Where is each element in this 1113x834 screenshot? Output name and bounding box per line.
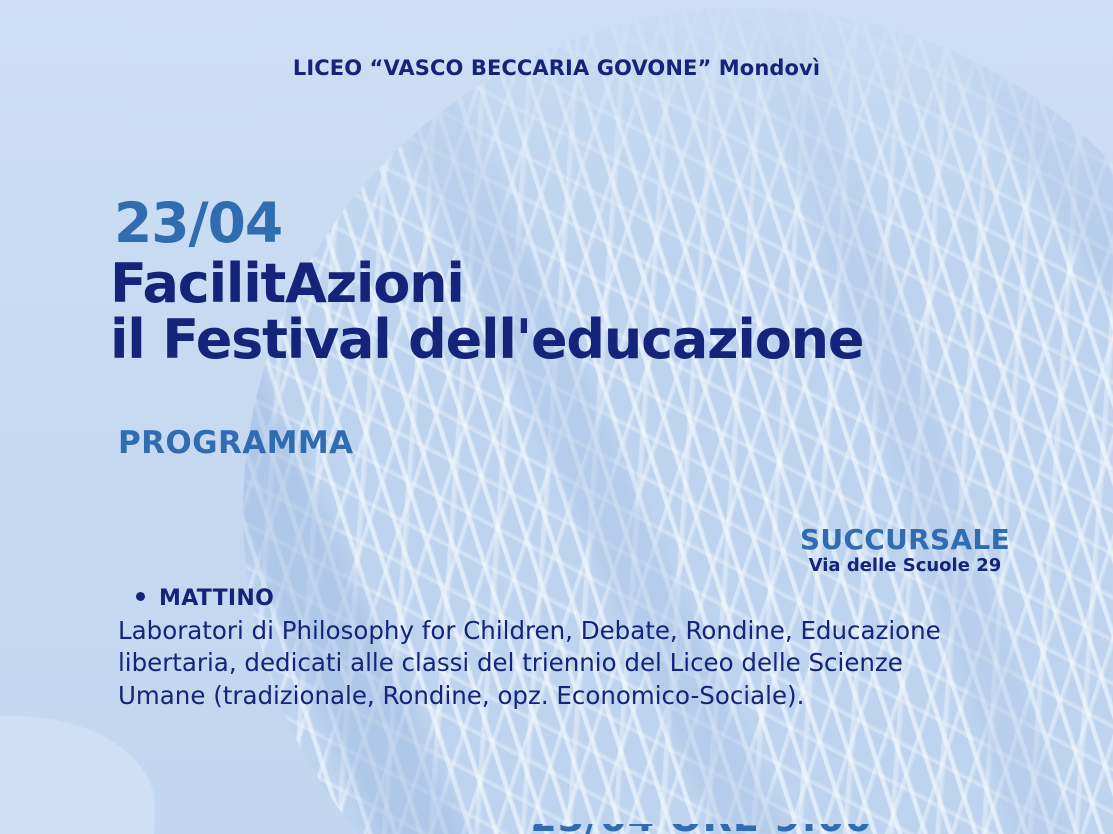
event-title-line-2: il Festival dell'educazione — [110, 312, 863, 368]
session-mattino-header: MATTINO — [136, 586, 998, 611]
venue-name: SUCCURSALE — [800, 525, 1010, 555]
event-date: 23/04 — [114, 196, 282, 251]
bullet-icon — [136, 592, 145, 601]
cropped-footer-region: 23/04 ORE 9:00 — [0, 824, 1113, 834]
cropped-footer-text: 23/04 ORE 9:00 — [0, 824, 1113, 834]
session-mattino: MATTINO Laboratori di Philosophy for Chi… — [118, 586, 998, 712]
poster-content: LICEO “VASCO BECCARIA GOVONE” Mondovì 23… — [0, 0, 1113, 834]
venue-address: Via delle Scuole 29 — [800, 556, 1010, 575]
session-mattino-description: Laboratori di Philosophy for Children, D… — [118, 615, 973, 712]
programme-heading: PROGRAMMA — [118, 425, 354, 461]
poster-canvas: LICEO “VASCO BECCARIA GOVONE” Mondovì 23… — [0, 0, 1113, 834]
event-title: FacilitAzioni il Festival dell'educazion… — [110, 256, 863, 368]
event-title-line-1: FacilitAzioni — [110, 256, 863, 312]
venue-block: SUCCURSALE Via delle Scuole 29 — [800, 525, 1010, 576]
session-mattino-label: MATTINO — [159, 586, 274, 611]
school-name-header: LICEO “VASCO BECCARIA GOVONE” Mondovì — [0, 56, 1113, 80]
